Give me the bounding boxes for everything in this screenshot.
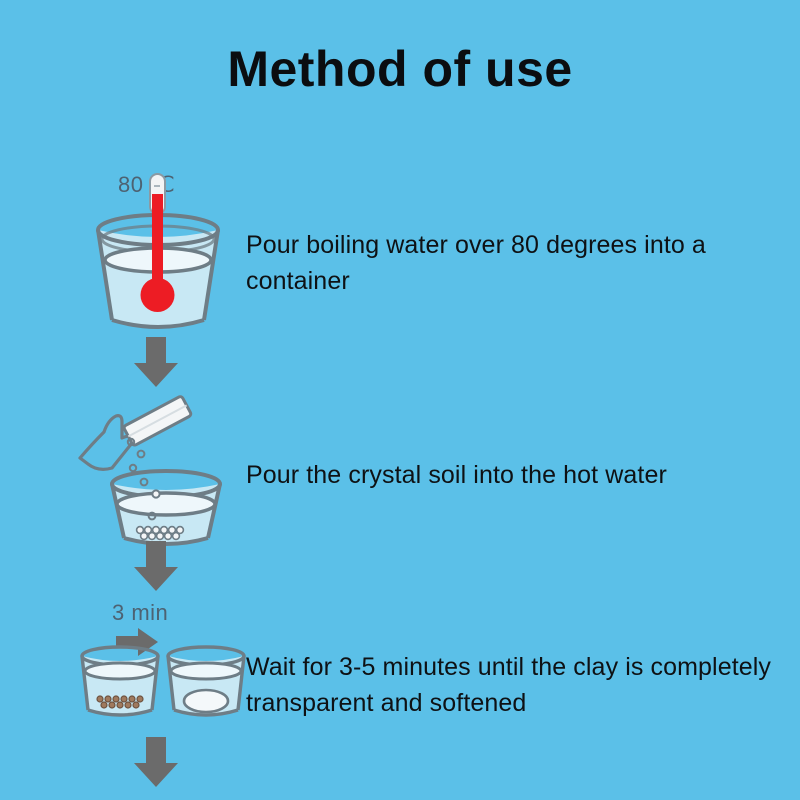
step-3-text: Wait for 3-5 minutes until the clay is c… bbox=[246, 650, 786, 721]
step-1: 80 ℃ bbox=[0, 160, 800, 340]
hand-pouring-packet-into-cup-icon bbox=[78, 398, 238, 548]
step-2-text: Pour the crystal soil into the hot water bbox=[246, 458, 786, 494]
cup-with-thermometer-icon bbox=[78, 160, 238, 340]
two-cups-before-after-icon bbox=[78, 598, 238, 728]
step-2: Pour the crystal soil into the hot water bbox=[0, 398, 800, 548]
down-arrow-2 bbox=[128, 541, 184, 593]
down-arrow-1 bbox=[128, 337, 184, 389]
down-arrow-3 bbox=[128, 737, 184, 789]
page-title: Method of use bbox=[0, 42, 800, 97]
step-3: 3 min bbox=[0, 598, 800, 728]
instruction-poster: Method of use 80 ℃ bbox=[0, 0, 800, 800]
step-1-text: Pour boiling water over 80 degrees into … bbox=[246, 228, 786, 299]
